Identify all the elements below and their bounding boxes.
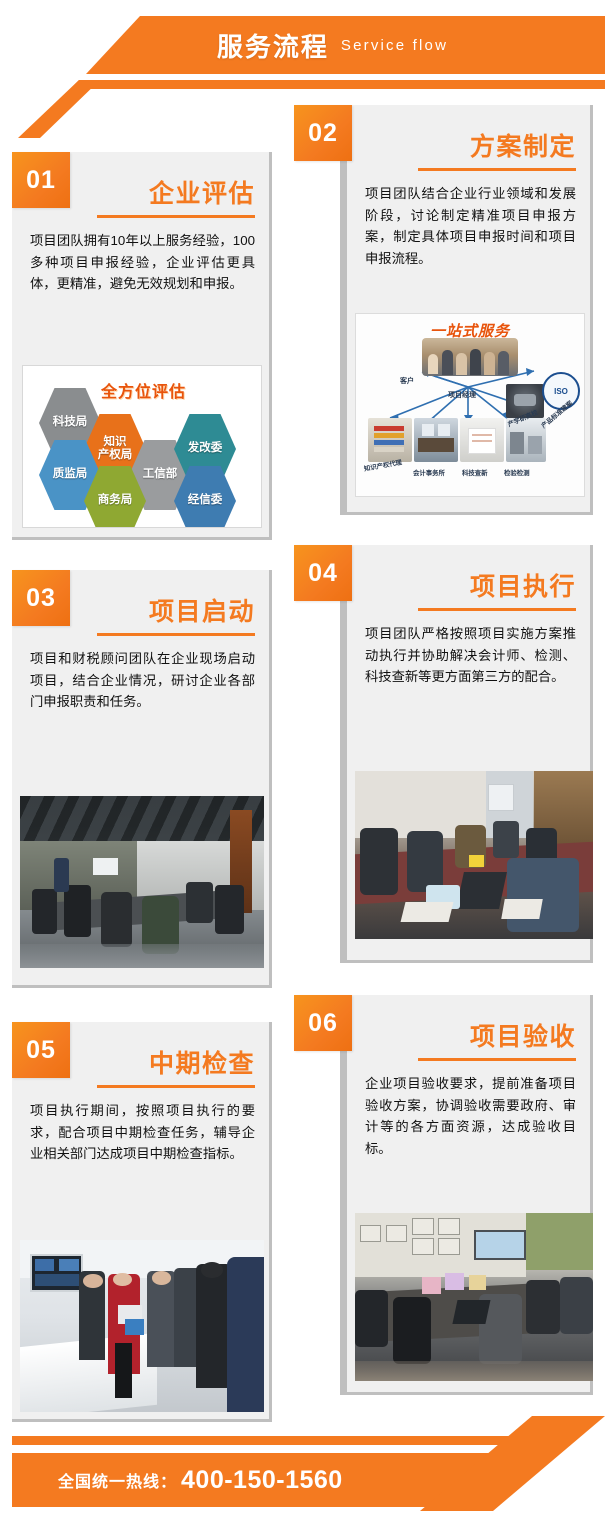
step-card-02[interactable]: 方案制定 项目团队结合企业行业领域和发展阶段，讨论制定精准项目申报方案，制定具体…: [340, 105, 593, 515]
step-body-02: 项目团队结合企业行业领域和发展阶段，讨论制定精准项目申报方案，制定具体项目申报时…: [347, 171, 590, 269]
step-number-06: 06: [308, 1009, 338, 1038]
step-number-04: 04: [308, 559, 338, 588]
step-card-03[interactable]: 项目启动 项目和财税顾问团队在企业现场启动项目，结合企业情况，研讨企业各部门申报…: [12, 570, 272, 988]
photo-project-execution-worktable: [355, 771, 593, 939]
step-title-06: 项目验收: [347, 1017, 590, 1053]
service-thumb-ip: [368, 418, 412, 462]
hex-node-label: 科技局: [53, 416, 88, 429]
step-body-04: 项目团队严格按照项目实施方案推动执行并协助解决会计师、检测、科技查新等更方面第三…: [347, 611, 590, 688]
step-card-05[interactable]: 中期检查 项目执行期间，按照项目执行的要求，配合项目中期检查任务，辅导企业相关部…: [12, 1022, 272, 1422]
step-badge-04: 04: [294, 545, 352, 601]
hexagon-figure-title: 全方位评估: [101, 378, 186, 402]
page-title: 服务流程: [217, 27, 329, 64]
service-label-novelty: 科技查新: [462, 468, 488, 477]
service-thumb-accounting: [414, 418, 458, 462]
step-title-02: 方案制定: [347, 127, 590, 163]
service-flow-poster: 服务流程 Service flow 企业评估 项目团队拥有10年以上服务经验，1…: [0, 0, 605, 1538]
hex-node-label: 经信委: [188, 494, 223, 507]
photo-acceptance-conference-room: [355, 1213, 593, 1381]
page-footer: 全国统一热线： 400-150-1560: [0, 1428, 605, 1538]
step-badge-05: 05: [12, 1022, 70, 1078]
step-number-02: 02: [308, 119, 338, 148]
step-card-06[interactable]: 项目验收 企业项目验收要求，提前准备项目验收方案，协调验收需要政府、审计等的各方…: [340, 995, 593, 1395]
assessment-hexagon-figure: 全方位评估 科技局 知识产权局 质监局 工信部 商务局 发改委 经信委: [22, 365, 262, 528]
step-title-04: 项目执行: [347, 567, 590, 603]
service-label-client: 客户: [400, 376, 414, 386]
page-header: 服务流程 Service flow: [0, 0, 605, 100]
step-body-03: 项目和财税顾问团队在企业现场启动项目，结合企业情况，研讨企业各部门申报职责和任务…: [12, 636, 269, 713]
header-title-group: 服务流程 Service flow: [0, 16, 605, 74]
step-badge-03: 03: [12, 570, 70, 626]
photo-showroom-inspection-visit: [20, 1240, 264, 1412]
step-card-01[interactable]: 企业评估 项目团队拥有10年以上服务经验，100多种项目申报经验，企业评估更具体…: [12, 152, 272, 540]
step-body-06: 企业项目验收要求，提前准备项目验收方案，协调验收需要政府、审计等的各方面资源，达…: [347, 1061, 590, 1159]
service-thumb-novelty: [460, 418, 504, 462]
service-label-manager: 项目经理: [448, 390, 476, 400]
hex-node-label: 质监局: [53, 468, 88, 481]
hex-node-label: 知识产权局: [98, 436, 133, 462]
hex-node-label: 发改委: [188, 442, 223, 455]
service-label-testing: 检验检测: [504, 468, 530, 477]
footer-hotline-group: 全国统一热线： 400-150-1560: [58, 1453, 343, 1507]
seal-label: ISO: [554, 387, 568, 396]
hex-node-label: 工信部: [143, 468, 178, 481]
step-body-05: 项目执行期间，按照项目执行的要求，配合项目中期检查任务，辅导企业相关部门达成项目…: [12, 1088, 269, 1165]
photo-meeting-room-kickoff: [20, 796, 264, 968]
step-number-03: 03: [26, 584, 56, 613]
step-card-04[interactable]: 项目执行 项目团队严格按照项目实施方案推动执行并协助解决会计师、检测、科技查新等…: [340, 545, 593, 963]
one-stop-service-figure: 一站式服务: [355, 313, 585, 497]
hex-node-label: 商务局: [98, 494, 133, 507]
hotline-label: 全国统一热线：: [58, 1468, 177, 1492]
service-label-accounting: 会计事务所: [413, 468, 445, 477]
step-badge-02: 02: [294, 105, 352, 161]
hotline-number[interactable]: 400-150-1560: [181, 1466, 343, 1495]
step-number-05: 05: [26, 1036, 56, 1065]
step-number-01: 01: [26, 166, 56, 195]
step-badge-06: 06: [294, 995, 352, 1051]
step-body-01: 项目团队拥有10年以上服务经验，100多种项目申报经验，企业评估更具体，更精准，…: [12, 218, 269, 295]
service-hub-photo: [422, 338, 518, 376]
page-subtitle: Service flow: [341, 37, 448, 54]
step-badge-01: 01: [12, 152, 70, 208]
